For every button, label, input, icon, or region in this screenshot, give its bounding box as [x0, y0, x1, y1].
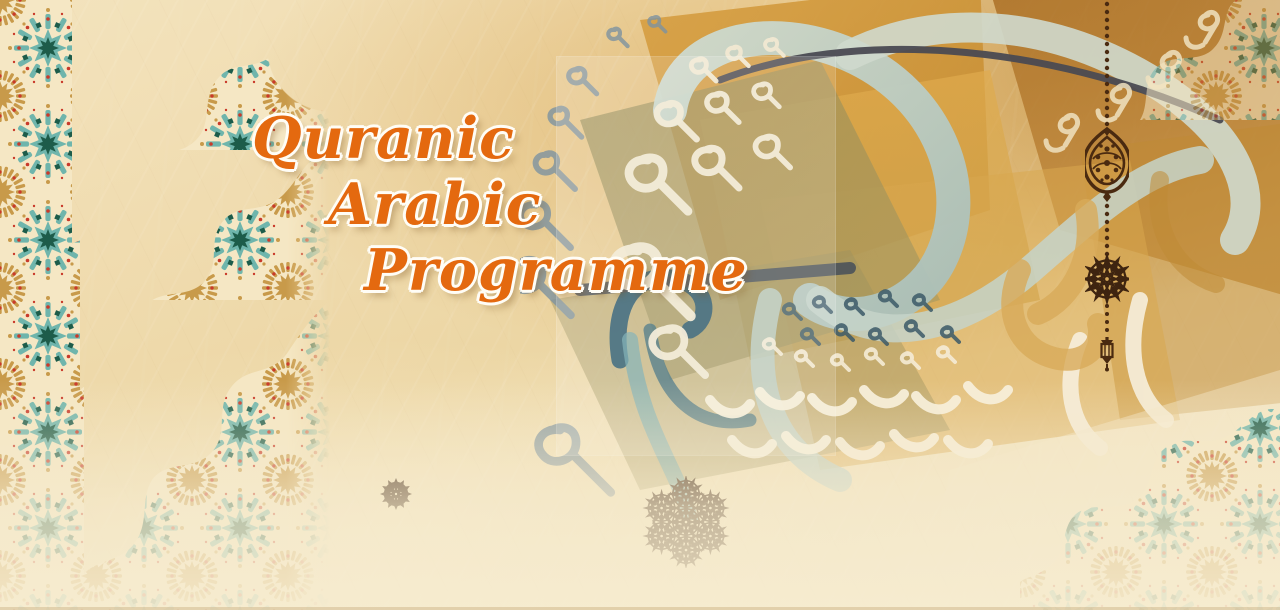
rosette-medallion-ornament	[1085, 252, 1129, 306]
lantern-medallion-ornament	[1085, 127, 1129, 202]
small-lantern-ornament	[1101, 337, 1113, 372]
hanging-ornament-chain	[1085, 0, 1129, 372]
bottom-fade-overlay	[0, 380, 1280, 610]
top-right-zellige-corner	[1120, 0, 1280, 120]
quranic-arabic-programme-banner: Quranic Arabic Programme	[0, 0, 1280, 610]
